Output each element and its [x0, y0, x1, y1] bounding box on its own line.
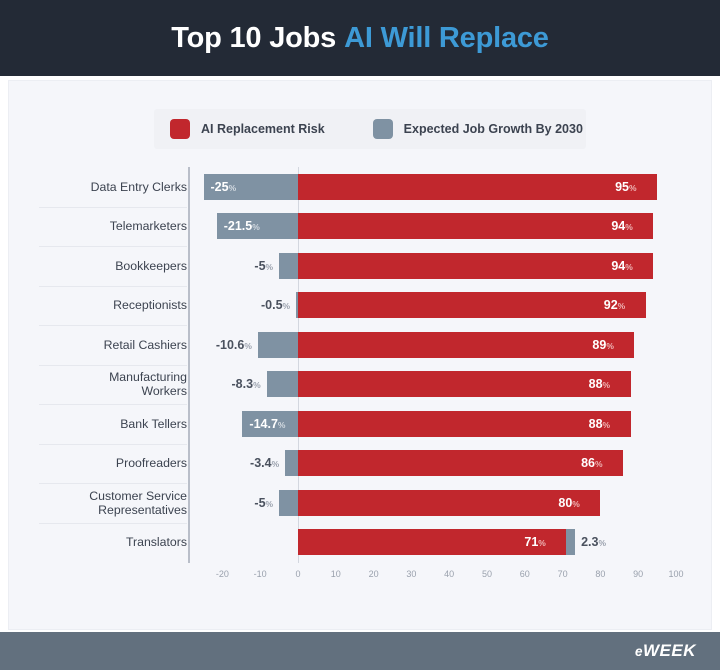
percent-sign: %: [538, 538, 546, 548]
value-label-expected-job-growth: -8.3%: [221, 377, 261, 391]
value-label-ai-replacement-risk: 88%: [589, 417, 610, 431]
percent-sign: %: [266, 499, 274, 509]
value-number: 95: [615, 180, 629, 194]
bar-ai-replacement-risk[interactable]: [298, 371, 631, 397]
bar-group: 71%2.3%: [199, 523, 689, 563]
value-label-ai-replacement-risk: 71%: [524, 535, 545, 549]
bar-expected-job-growth[interactable]: [279, 253, 298, 279]
percent-sign: %: [625, 222, 633, 232]
value-number: 86: [581, 456, 595, 470]
value-label-expected-job-growth: -5%: [233, 259, 273, 273]
category-label: Telemarketers: [29, 207, 187, 247]
percent-sign: %: [272, 459, 280, 469]
plot-area: 95%-25%94%-21.5%94%-5%92%-0.5%89%-10.6%8…: [199, 167, 689, 563]
chart-legend: AI Replacement Risk Expected Job Growth …: [154, 109, 586, 149]
percent-sign: %: [244, 341, 252, 351]
bar-group: 92%-0.5%: [199, 286, 689, 326]
x-axis: -20-100102030405060708090100: [199, 565, 689, 587]
x-axis-tick-label: 80: [595, 569, 605, 579]
bar-expected-job-growth[interactable]: [296, 292, 298, 318]
legend-label-ai-replacement-risk: AI Replacement Risk: [201, 122, 325, 136]
percent-sign: %: [606, 341, 614, 351]
value-number: 88: [589, 377, 603, 391]
x-axis-tick-label: 10: [331, 569, 341, 579]
x-axis-tick-label: 50: [482, 569, 492, 579]
category-label: Retail Cashiers: [29, 325, 187, 365]
percent-sign: %: [253, 380, 261, 390]
percent-sign: %: [618, 301, 626, 311]
value-number: -21.5: [224, 219, 253, 233]
x-axis-tick-label: 90: [633, 569, 643, 579]
bar-group: 80%-5%: [199, 483, 689, 523]
value-number: 2.3: [581, 535, 598, 549]
chart-panel: AI Replacement Risk Expected Job Growth …: [8, 80, 712, 630]
bar-group: 88%-8.3%: [199, 365, 689, 405]
value-number: 92: [604, 298, 618, 312]
bar-ai-replacement-risk[interactable]: [298, 411, 631, 437]
bar-ai-replacement-risk[interactable]: [298, 253, 653, 279]
value-label-ai-replacement-risk: 80%: [558, 496, 579, 510]
category-label: Data Entry Clerks: [29, 167, 187, 207]
bar-expected-job-growth[interactable]: [258, 332, 298, 358]
value-number: 94: [611, 259, 625, 273]
value-number: -10.6: [216, 338, 245, 352]
eweek-logo: eWEEK: [635, 641, 696, 661]
bar-ai-replacement-risk[interactable]: [298, 332, 634, 358]
value-label-ai-replacement-risk: 92%: [604, 298, 625, 312]
bar-group: 94%-21.5%: [199, 207, 689, 247]
percent-sign: %: [266, 262, 274, 272]
percent-sign: %: [629, 183, 637, 193]
value-number: -3.4: [250, 456, 272, 470]
x-axis-tick-label: 100: [668, 569, 683, 579]
bar-group: 95%-25%: [199, 167, 689, 207]
percent-sign: %: [598, 538, 606, 548]
bar-chart: Data Entry ClerksTelemarketersBookkeeper…: [9, 167, 713, 587]
bar-ai-replacement-risk[interactable]: [298, 450, 623, 476]
value-label-expected-job-growth: -25%: [211, 180, 237, 194]
category-label: Manufacturing Workers: [29, 365, 187, 405]
bar-expected-job-growth[interactable]: [279, 490, 298, 516]
value-label-expected-job-growth: -10.6%: [212, 338, 252, 352]
bar-ai-replacement-risk[interactable]: [298, 174, 657, 200]
percent-sign: %: [603, 380, 611, 390]
value-label-ai-replacement-risk: 95%: [615, 180, 636, 194]
percent-sign: %: [603, 420, 611, 430]
value-label-expected-job-growth: -14.7%: [249, 417, 285, 431]
bar-expected-job-growth[interactable]: [285, 450, 298, 476]
red-swatch-icon: [170, 119, 190, 139]
value-label-ai-replacement-risk: 94%: [611, 219, 632, 233]
bar-ai-replacement-risk[interactable]: [298, 213, 653, 239]
bar-ai-replacement-risk[interactable]: [298, 292, 646, 318]
bar-group: 94%-5%: [199, 246, 689, 286]
category-label: Bank Tellers: [29, 404, 187, 444]
percent-sign: %: [278, 420, 286, 430]
footer-bar: eWEEK: [0, 632, 720, 670]
value-number: 89: [592, 338, 606, 352]
value-number: -0.5: [261, 298, 283, 312]
x-axis-tick-label: -20: [216, 569, 229, 579]
bar-group: 88%-14.7%: [199, 404, 689, 444]
value-number: -25: [211, 180, 229, 194]
bar-group: 86%-3.4%: [199, 444, 689, 484]
value-number: 80: [558, 496, 572, 510]
brand-week: WEEK: [643, 641, 696, 660]
x-axis-tick-label: 60: [520, 569, 530, 579]
x-axis-tick-label: 20: [369, 569, 379, 579]
value-number: -14.7: [249, 417, 278, 431]
x-axis-tick-label: 70: [558, 569, 568, 579]
value-label-ai-replacement-risk: 86%: [581, 456, 602, 470]
percent-sign: %: [625, 262, 633, 272]
title-part-two: AI Will Replace: [344, 22, 549, 54]
header-bar: Top 10 JobsAI Will Replace: [0, 0, 720, 76]
legend-label-expected-job-growth: Expected Job Growth By 2030: [404, 122, 583, 136]
value-label-expected-job-growth: -5%: [233, 496, 273, 510]
percent-sign: %: [572, 499, 580, 509]
title-part-one: Top 10 Jobs: [171, 22, 336, 54]
value-number: -8.3: [232, 377, 254, 391]
value-number: -5: [254, 496, 265, 510]
value-label-expected-job-growth: -21.5%: [224, 219, 260, 233]
value-number: 88: [589, 417, 603, 431]
bar-ai-replacement-risk[interactable]: [298, 490, 600, 516]
value-label-expected-job-growth: 2.3%: [581, 535, 606, 549]
infographic-poster: Top 10 JobsAI Will Replace AI Replacemen…: [0, 0, 720, 670]
value-number: -5: [254, 259, 265, 273]
legend-item-ai-replacement-risk[interactable]: AI Replacement Risk: [170, 119, 325, 139]
value-number: 71: [524, 535, 538, 549]
percent-sign: %: [229, 183, 237, 193]
category-label: Bookkeepers: [29, 246, 187, 286]
bar-expected-job-growth[interactable]: [267, 371, 298, 397]
x-axis-tick-label: 30: [406, 569, 416, 579]
blue-swatch-icon: [373, 119, 393, 139]
value-label-ai-replacement-risk: 94%: [611, 259, 632, 273]
legend-item-expected-job-growth[interactable]: Expected Job Growth By 2030: [373, 119, 583, 139]
percent-sign: %: [252, 222, 260, 232]
value-label-expected-job-growth: -3.4%: [239, 456, 279, 470]
value-label-ai-replacement-risk: 88%: [589, 377, 610, 391]
y-axis-line: [188, 167, 190, 563]
percent-sign: %: [595, 459, 603, 469]
x-axis-tick-label: -10: [254, 569, 267, 579]
x-axis-tick-label: 40: [444, 569, 454, 579]
percent-sign: %: [283, 301, 291, 311]
category-label: Proofreaders: [29, 444, 187, 484]
value-label-ai-replacement-risk: 89%: [592, 338, 613, 352]
value-number: 94: [611, 219, 625, 233]
page-title: Top 10 JobsAI Will Replace: [171, 22, 549, 55]
category-label: Translators: [29, 523, 187, 563]
bar-group: 89%-10.6%: [199, 325, 689, 365]
category-label: Receptionists: [29, 286, 187, 326]
x-axis-tick-label: 0: [295, 569, 300, 579]
brand-e: e: [635, 644, 643, 659]
bar-expected-job-growth[interactable]: [566, 529, 575, 555]
category-label: Customer Service Representatives: [29, 483, 187, 523]
value-label-expected-job-growth: -0.5%: [250, 298, 290, 312]
